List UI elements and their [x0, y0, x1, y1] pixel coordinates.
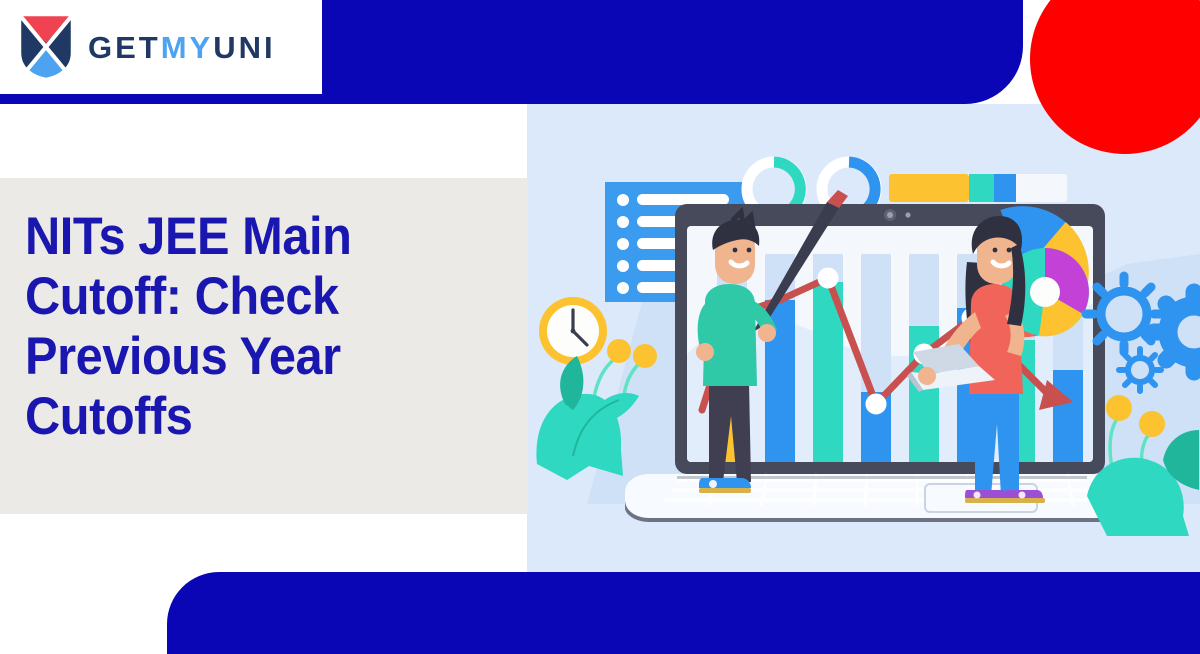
footer-bar [167, 572, 1200, 654]
wall-clock-icon [539, 297, 607, 365]
brand-wordmark-my: MY [161, 30, 214, 65]
brand-wordmark: GETMYUNI [88, 32, 276, 63]
shield-x-logo-icon [18, 13, 74, 81]
segmented-progress-bar [889, 174, 1067, 202]
brand-wordmark-get: GET [88, 30, 161, 65]
brand-wordmark-uni: UNI [213, 30, 275, 65]
brand-logo[interactable]: GETMYUNI [0, 0, 322, 94]
page-title: NITs JEE Main Cutoff: Check Previous Yea… [25, 207, 457, 447]
banner-canvas: GETMYUNI NITs JEE Main Cutoff: Check Pre… [0, 0, 1200, 654]
analytics-illustration [527, 104, 1200, 572]
